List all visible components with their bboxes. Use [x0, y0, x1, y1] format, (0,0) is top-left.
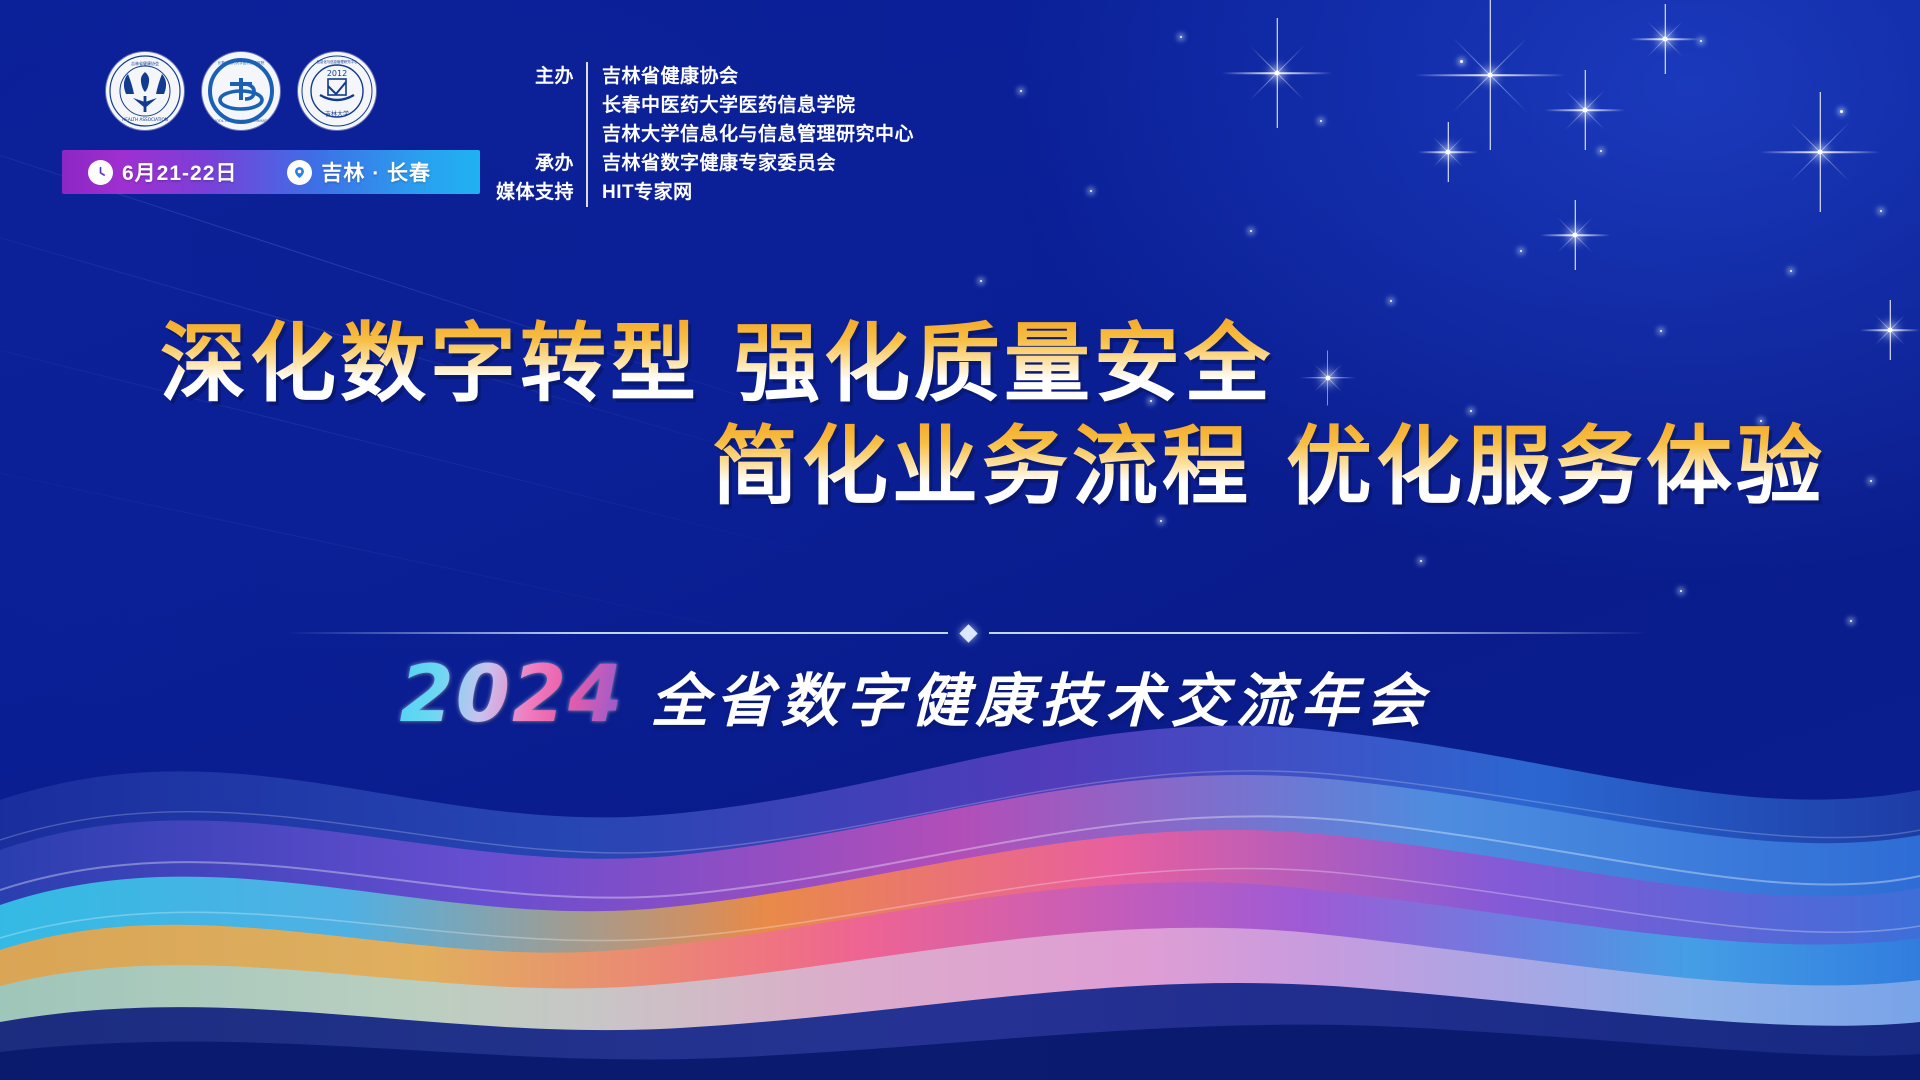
svg-text:吉林省健康协会: 吉林省健康协会	[131, 60, 159, 66]
jilin-university-informatization-center-logo: 2012 吉林大学 信息化与信息管理研究中心	[298, 52, 376, 130]
event-location: 吉林 · 长春	[287, 157, 431, 187]
location-pin-icon	[287, 160, 312, 185]
svg-text:SCHOOL OF MEDICAL INFORMATION: SCHOOL OF MEDICAL INFORMATION	[209, 119, 274, 123]
organizer-label: 承办	[496, 149, 574, 178]
organizer-label: 媒体支持	[496, 178, 574, 207]
event-location-text: 吉林 · 长春	[321, 157, 431, 187]
event-meta-bar: 6月21-22日 吉林 · 长春	[62, 150, 480, 194]
logo-group: HEALTH ASSOCIATION 吉林省健康协会 SCHOOL OF MED…	[106, 52, 376, 130]
divider-line-left	[288, 632, 948, 634]
event-date: 6月21-22日	[88, 157, 237, 187]
jilin-health-association-logo: HEALTH ASSOCIATION 吉林省健康协会	[106, 52, 184, 130]
svg-text:信息化与信息管理研究中心: 信息化与信息管理研究中心	[317, 59, 358, 64]
svg-text:2012: 2012	[327, 69, 347, 78]
organizer-value: 长春中医药大学医药信息学院	[602, 91, 914, 120]
organizer-value: 吉林省健康协会	[602, 62, 914, 91]
clock-icon	[88, 160, 113, 185]
conference-banner: HEALTH ASSOCIATION 吉林省健康协会 SCHOOL OF MED…	[0, 0, 1920, 1080]
organizer-value: 吉林大学信息化与信息管理研究中心	[602, 120, 914, 149]
svg-text:长春中医药大学医药信息学院: 长春中医药大学医药信息学院	[218, 60, 265, 65]
diamond-icon	[959, 624, 977, 642]
event-date-text: 6月21-22日	[122, 157, 237, 187]
wave-decoration	[0, 650, 1920, 1080]
organizer-value: 吉林省数字健康专家委员会	[602, 149, 914, 178]
headline-line-1: 深化数字转型 强化质量安全	[160, 318, 1920, 411]
decorative-divider	[288, 622, 1648, 644]
organizer-labels: 主办 承办 媒体支持	[496, 62, 588, 207]
changchun-medical-information-college-logo: SCHOOL OF MEDICAL INFORMATION 长春中医药大学医药信…	[202, 52, 280, 130]
headline-line-2: 简化业务流程 优化服务体验	[712, 421, 1920, 514]
svg-text:吉林大学: 吉林大学	[325, 110, 349, 118]
organizer-block: 主办 承办 媒体支持 吉林省健康协会 长春中医药大学医药信息学院 吉林大学信息化…	[496, 62, 914, 207]
organizer-label	[496, 91, 574, 120]
divider-line-right	[989, 632, 1649, 634]
organizer-label: 主办	[496, 62, 574, 91]
organizer-label	[496, 120, 574, 149]
organizer-values: 吉林省健康协会 长春中医药大学医药信息学院 吉林大学信息化与信息管理研究中心 吉…	[588, 62, 914, 207]
headline-block: 深化数字转型 强化质量安全 简化业务流程 优化服务体验	[0, 318, 1920, 514]
organizer-value: HIT专家网	[602, 178, 914, 207]
svg-text:HEALTH ASSOCIATION: HEALTH ASSOCIATION	[122, 117, 168, 122]
